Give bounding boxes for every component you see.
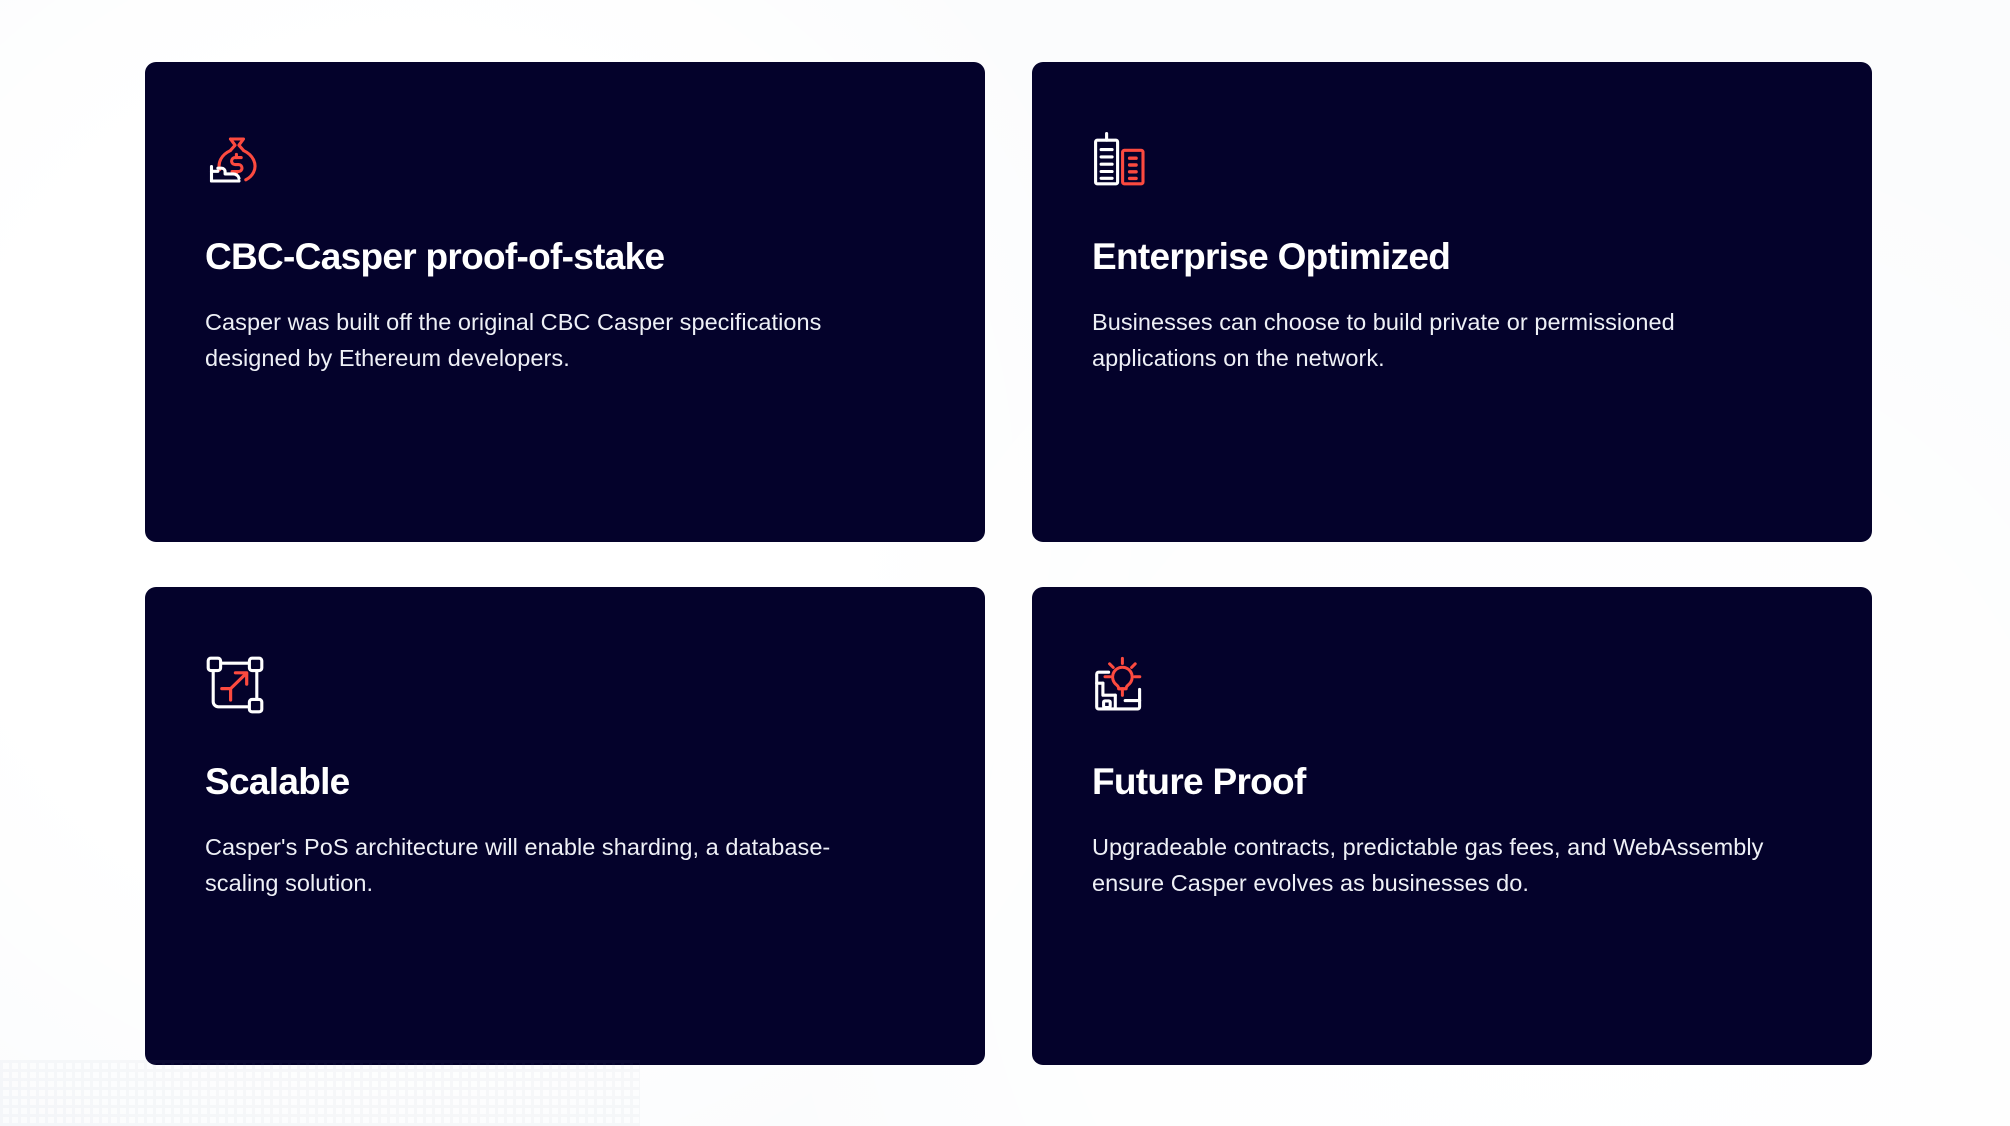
card-body: Businesses can choose to build private o… (1092, 305, 1792, 376)
feature-card-scalable[interactable]: Scalable Casper's PoS architecture will … (145, 587, 985, 1065)
feature-card-cbc-casper[interactable]: CBC-Casper proof-of-stake Casper was bui… (145, 62, 985, 542)
money-bag-icon (205, 130, 265, 190)
feature-card-enterprise-optimized[interactable]: Enterprise Optimized Businesses can choo… (1032, 62, 1872, 542)
scale-arrow-icon (205, 655, 265, 715)
card-body: Casper was built off the original CBC Ca… (205, 305, 895, 376)
feature-card-future-proof[interactable]: Future Proof Upgradeable contracts, pred… (1032, 587, 1872, 1065)
feature-card-grid: CBC-Casper proof-of-stake Casper was bui… (145, 62, 1872, 1065)
card-title: Future Proof (1092, 761, 1812, 802)
lightbulb-circuit-icon (1092, 655, 1152, 715)
background-texture (0, 1060, 640, 1126)
card-body: Casper's PoS architecture will enable sh… (205, 830, 895, 901)
card-body: Upgradeable contracts, predictable gas f… (1092, 830, 1792, 901)
buildings-icon (1092, 130, 1152, 190)
card-title: CBC-Casper proof-of-stake (205, 236, 925, 277)
card-title: Enterprise Optimized (1092, 236, 1812, 277)
card-title: Scalable (205, 761, 925, 802)
